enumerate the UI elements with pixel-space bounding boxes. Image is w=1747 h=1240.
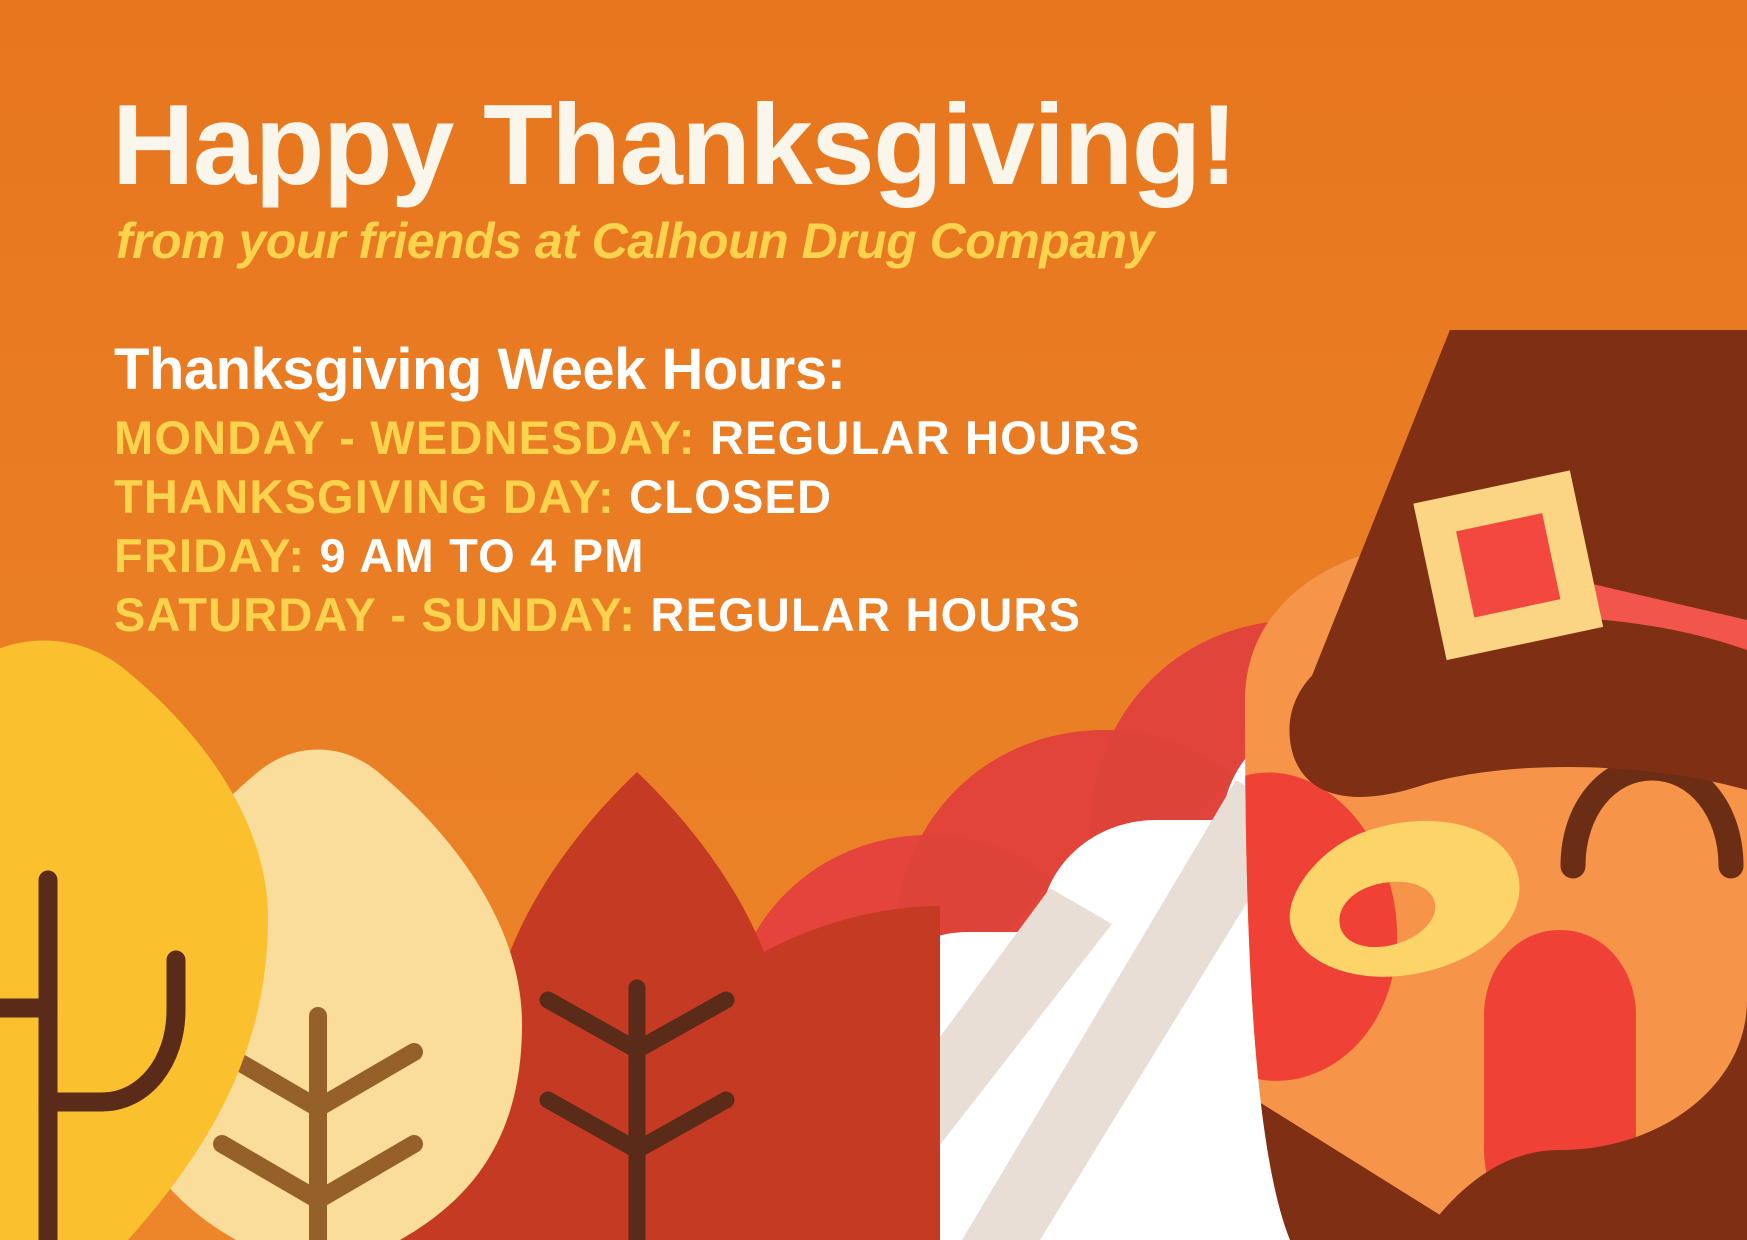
turkey-eye — [1573, 768, 1731, 866]
hours-day-label: SATURDAY - SUNDAY: — [114, 588, 636, 641]
hours-day-label: THANKSGIVING DAY: — [114, 470, 615, 523]
poster-text-block: Happy Thanksgiving! from your friends at… — [112, 88, 1312, 644]
turkey-tail-feathers-white — [690, 712, 1520, 1240]
hours-day-value: CLOSED — [629, 470, 832, 523]
list-item: FRIDAY: 9 AM TO 4 PM — [114, 527, 1312, 586]
hours-day-label: MONDAY - WEDNESDAY: — [114, 411, 696, 464]
list-item: MONDAY - WEDNESDAY: REGULAR HOURS — [114, 409, 1312, 468]
hours-list: MONDAY - WEDNESDAY: REGULAR HOURS THANKS… — [112, 409, 1312, 644]
hours-day-value: REGULAR HOURS — [710, 411, 1141, 464]
thanksgiving-poster: Happy Thanksgiving! from your friends at… — [0, 0, 1747, 1240]
pilgrim-hat — [1289, 330, 1747, 797]
list-item: THANKSGIVING DAY: CLOSED — [114, 468, 1312, 527]
turkey-beak — [1290, 821, 1520, 977]
red-maple-leaf — [334, 772, 940, 1240]
list-item: SATURDAY - SUNDAY: REGULAR HOURS — [114, 586, 1312, 645]
hours-day-label: FRIDAY: — [114, 529, 305, 582]
gold-teardrop-leaf — [0, 641, 268, 1240]
subtitle: from your friends at Calhoun Drug Compan… — [116, 212, 1312, 270]
cream-teardrop-leaf — [114, 750, 522, 1240]
page-title: Happy Thanksgiving! — [112, 88, 1312, 204]
turkey-tail-feathers-red — [726, 620, 1510, 1240]
hat-buckle — [1413, 470, 1603, 660]
hours-heading: Thanksgiving Week Hours: — [114, 336, 1312, 403]
hours-day-value: REGULAR HOURS — [650, 588, 1081, 641]
hours-day-value: 9 AM TO 4 PM — [319, 529, 644, 582]
